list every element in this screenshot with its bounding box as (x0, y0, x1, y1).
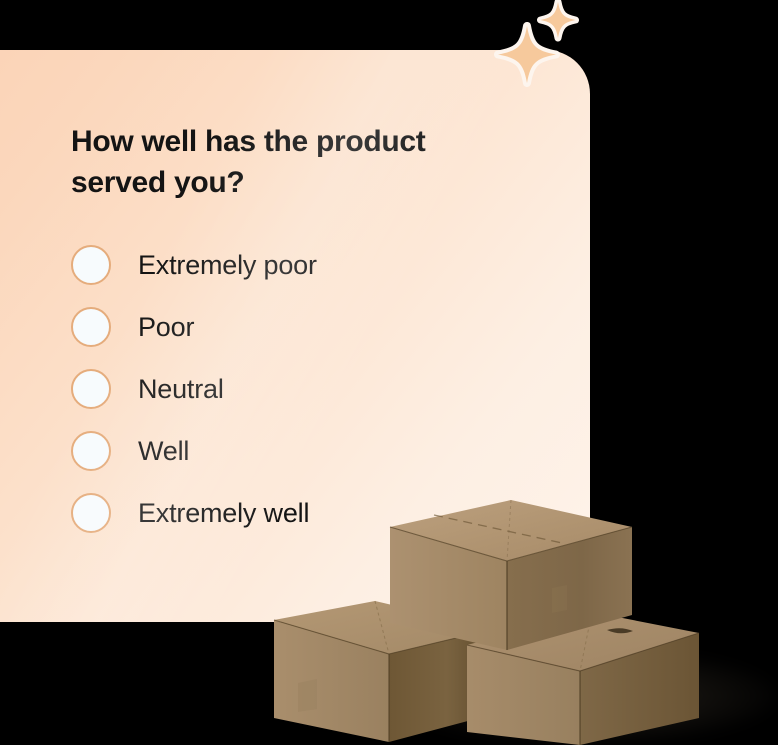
survey-card: How well has the product served you? Ext… (0, 50, 590, 622)
survey-option-extremely-well[interactable]: Extremely well (71, 482, 570, 544)
survey-option-label: Well (138, 436, 189, 466)
cardboard-box-bottom-right (467, 612, 699, 745)
survey-option-label: Poor (138, 312, 194, 342)
survey-option-extremely-poor[interactable]: Extremely poor (71, 234, 570, 296)
survey-option-label: Extremely well (138, 498, 309, 528)
sparkle-small-icon (541, 2, 576, 38)
radio-button-icon[interactable] (71, 307, 111, 347)
survey-option-label: Neutral (138, 374, 224, 404)
survey-option-poor[interactable]: Poor (71, 296, 570, 358)
page-title: How well has the product served you? (71, 121, 501, 203)
radio-button-icon[interactable] (71, 493, 111, 533)
survey-option-well[interactable]: Well (71, 420, 570, 482)
boxes-floor-shadow (392, 648, 778, 744)
radio-button-icon[interactable] (71, 245, 111, 285)
survey-option-label: Extremely poor (138, 250, 317, 280)
survey-card-content: How well has the product served you? Ext… (71, 121, 570, 544)
survey-option-neutral[interactable]: Neutral (71, 358, 570, 420)
cardboard-box-bottom-left (274, 601, 494, 742)
screenshot-stage: How well has the product served you? Ext… (0, 0, 778, 745)
radio-button-icon[interactable] (71, 369, 111, 409)
survey-options-list: Extremely poor Poor Neutral Well Extreme (71, 234, 570, 544)
radio-button-icon[interactable] (71, 431, 111, 471)
